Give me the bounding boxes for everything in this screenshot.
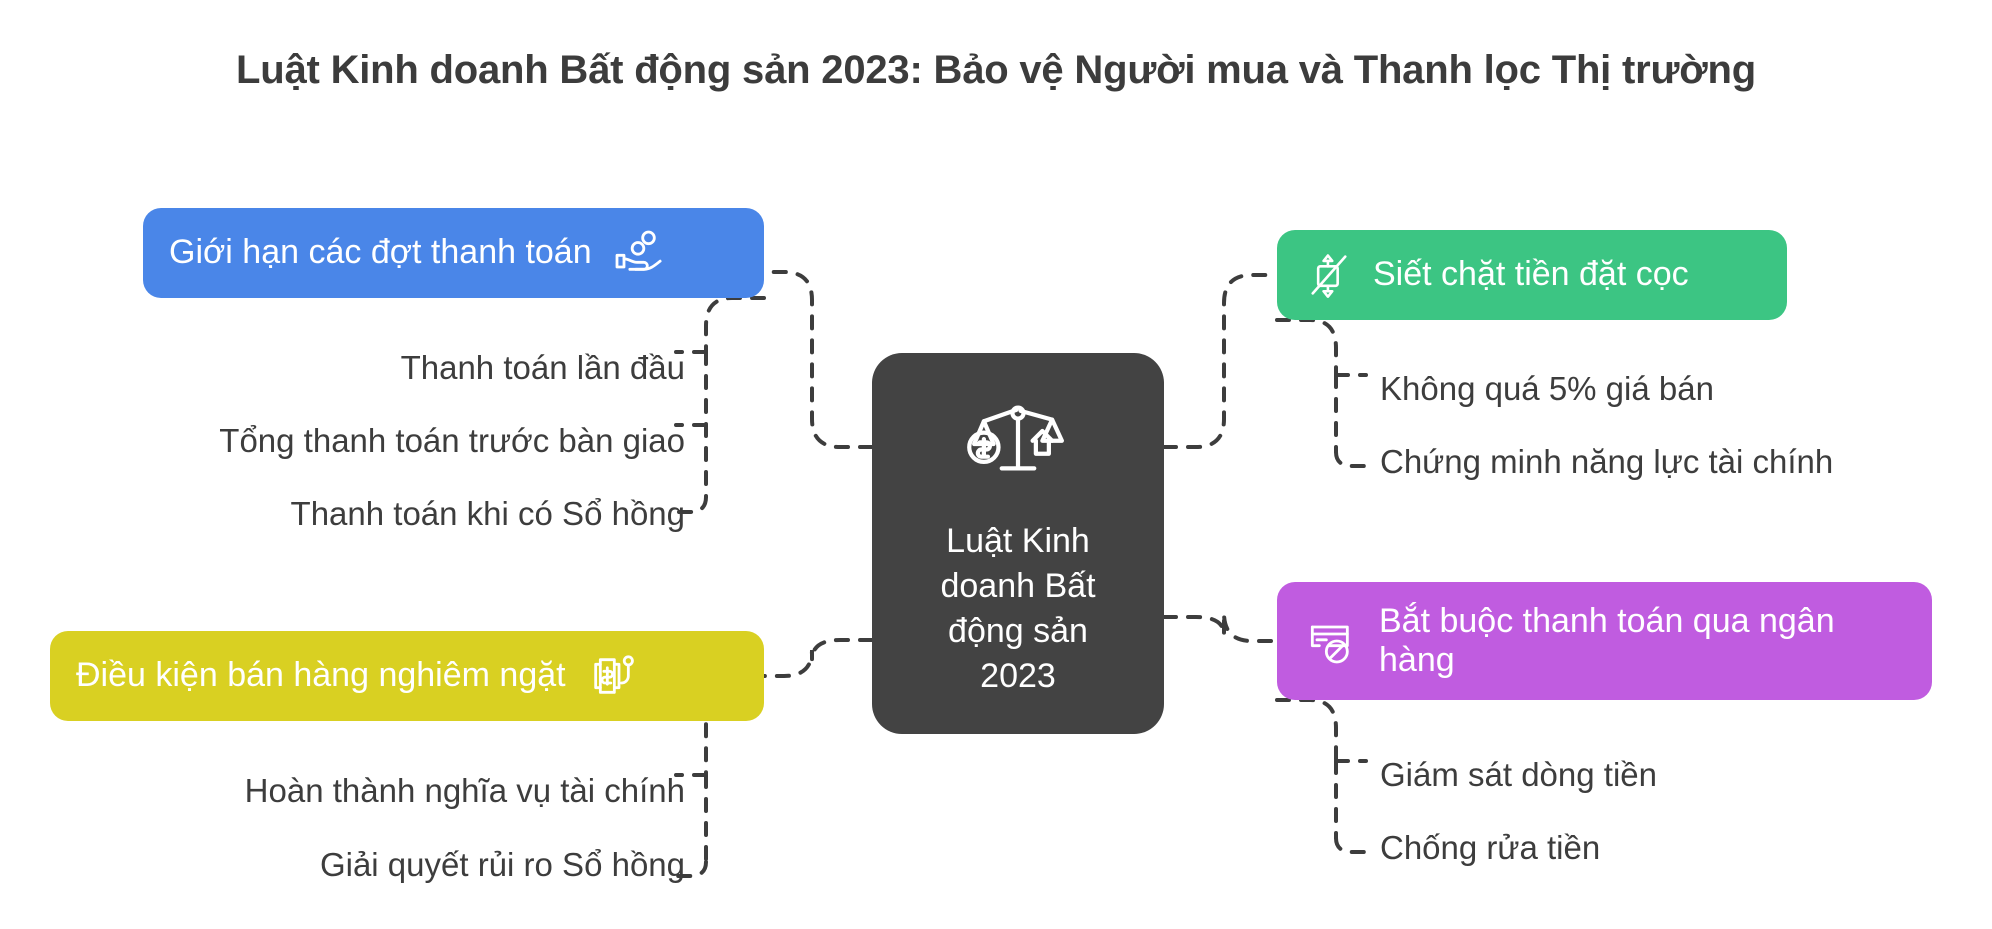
mindmap-canvas: Luật Kinh doanh Bất động sản 2023: Bảo v… bbox=[0, 0, 1992, 929]
connector-purple-spine-top bbox=[1277, 700, 1336, 761]
credit-card-blocked-icon bbox=[1303, 613, 1359, 669]
hand-holding-coins-icon bbox=[610, 225, 666, 281]
connector-purple-leaf-1 bbox=[1336, 838, 1366, 852]
connector-central-yellow bbox=[764, 640, 872, 676]
connector-central-blue bbox=[764, 272, 872, 447]
branch-label-yellow: Điều kiện bán hàng nghiêm ngặt bbox=[76, 656, 566, 695]
branch-header-purple[interactable]: Bắt buộc thanh toán qua ngân hàng bbox=[1277, 582, 1932, 700]
no-resize-deposit-icon bbox=[1303, 249, 1355, 301]
central-node-label: Luật Kinh doanh Bất động sản 2023 bbox=[940, 519, 1095, 700]
page-title: Luật Kinh doanh Bất động sản 2023: Bảo v… bbox=[0, 48, 1992, 93]
leaf-purple-0: Giám sát dòng tiền bbox=[1380, 758, 1657, 791]
leaf-green-1: Chứng minh năng lực tài chính bbox=[1380, 445, 1833, 478]
connector-blue-spine-top bbox=[706, 298, 764, 352]
scales-balance-money-house-icon bbox=[966, 392, 1070, 501]
leaf-yellow-1: Giải quyết rủi ro Sổ hồng bbox=[0, 848, 685, 881]
money-document-check-icon bbox=[584, 648, 640, 704]
leaf-purple-1: Chống rửa tiền bbox=[1380, 831, 1600, 864]
connector-green-leaf-1 bbox=[1336, 452, 1366, 466]
connector-central-purple bbox=[1164, 613, 1277, 641]
leaf-green-0: Không quá 5% giá bán bbox=[1380, 372, 1714, 405]
branch-header-green[interactable]: Siết chặt tiền đặt cọc bbox=[1277, 230, 1787, 320]
leaf-blue-0: Thanh toán lần đầu bbox=[0, 351, 685, 384]
connector-central-green bbox=[1164, 275, 1277, 447]
branch-label-green: Siết chặt tiền đặt cọc bbox=[1373, 255, 1689, 294]
central-node[interactable]: Luật Kinh doanh Bất động sản 2023 bbox=[872, 353, 1164, 734]
branch-header-blue[interactable]: Giới hạn các đợt thanh toán bbox=[143, 208, 764, 298]
leaf-blue-2: Thanh toán khi có Sổ hồng bbox=[0, 497, 685, 530]
branch-header-yellow[interactable]: Điều kiện bán hàng nghiêm ngặt bbox=[50, 631, 764, 721]
connector-green-spine-top bbox=[1277, 320, 1336, 375]
branch-label-blue: Giới hạn các đợt thanh toán bbox=[169, 233, 592, 272]
leaf-yellow-0: Hoàn thành nghĩa vụ tài chính bbox=[0, 774, 685, 807]
leaf-blue-1: Tổng thanh toán trước bàn giao bbox=[0, 424, 685, 457]
branch-label-purple: Bắt buộc thanh toán qua ngân hàng bbox=[1379, 602, 1835, 680]
